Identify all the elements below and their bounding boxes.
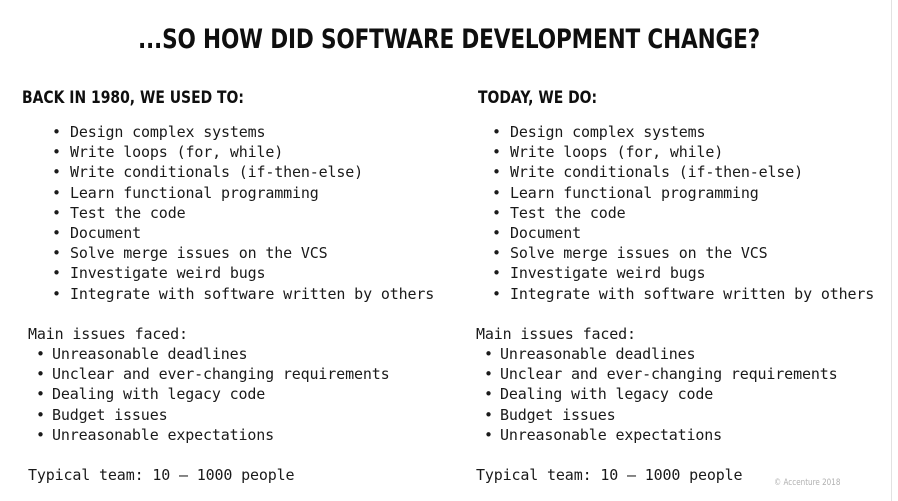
bullet-icon: • bbox=[52, 284, 61, 304]
bullet-icon: • bbox=[52, 203, 61, 223]
list-item: •Learn functional programming bbox=[492, 183, 890, 203]
list-item-label: Test the code bbox=[70, 204, 185, 222]
column-today: TODAY, WE DO: •Design complex systems•Wr… bbox=[470, 88, 890, 485]
list-item: •Write conditionals (if-then-else) bbox=[52, 162, 462, 182]
list-item: •Budget issues bbox=[484, 405, 890, 425]
list-item-label: Learn functional programming bbox=[510, 184, 759, 202]
bullet-icon: • bbox=[492, 122, 501, 142]
list-item-label: Design complex systems bbox=[70, 123, 265, 141]
bullet-icon: • bbox=[52, 183, 61, 203]
bullet-icon: • bbox=[492, 142, 501, 162]
list-item-label: Unreasonable deadlines bbox=[52, 345, 247, 363]
bullet-icon: • bbox=[36, 384, 45, 404]
list-item: •Investigate weird bugs bbox=[492, 263, 890, 283]
column-past-issues-heading: Main issues faced: bbox=[28, 324, 462, 344]
column-today-issues-heading: Main issues faced: bbox=[476, 324, 890, 344]
list-item: •Unreasonable expectations bbox=[36, 425, 462, 445]
bullet-icon: • bbox=[492, 223, 501, 243]
bullet-icon: • bbox=[492, 203, 501, 223]
list-item: •Document bbox=[52, 223, 462, 243]
copyright-watermark: © Accenture 2018 bbox=[774, 478, 840, 488]
column-past-team-section: Typical team: 10 – 1000 people bbox=[22, 465, 462, 485]
list-item: •Solve merge issues on the VCS bbox=[492, 243, 890, 263]
slide: ...SO HOW DID SOFTWARE DEVELOPMENT CHANG… bbox=[0, 0, 898, 501]
list-item: •Dealing with legacy code bbox=[36, 384, 462, 404]
bullet-icon: • bbox=[484, 384, 493, 404]
list-item-label: Unreasonable expectations bbox=[52, 426, 274, 444]
bullet-icon: • bbox=[52, 162, 61, 182]
list-item-label: Integrate with software written by other… bbox=[510, 285, 874, 303]
column-past-heading: BACK IN 1980, WE USED TO: bbox=[22, 88, 383, 108]
list-item: •Budget issues bbox=[36, 405, 462, 425]
bullet-icon: • bbox=[52, 142, 61, 162]
bullet-icon: • bbox=[492, 162, 501, 182]
list-item: •Unreasonable deadlines bbox=[484, 344, 890, 364]
list-item: •Unclear and ever-changing requirements bbox=[484, 364, 890, 384]
bullet-icon: • bbox=[484, 344, 493, 364]
bullet-icon: • bbox=[36, 405, 45, 425]
page-title: ...SO HOW DID SOFTWARE DEVELOPMENT CHANG… bbox=[90, 24, 808, 55]
list-item-label: Unclear and ever-changing requirements bbox=[52, 365, 389, 383]
bullet-icon: • bbox=[52, 223, 61, 243]
list-item: •Investigate weird bugs bbox=[52, 263, 462, 283]
list-item: •Document bbox=[492, 223, 890, 243]
list-item: •Write loops (for, while) bbox=[492, 142, 890, 162]
list-item-label: Solve merge issues on the VCS bbox=[70, 244, 328, 262]
list-item-label: Budget issues bbox=[500, 406, 615, 424]
list-item-label: Design complex systems bbox=[510, 123, 705, 141]
list-item-label: Investigate weird bugs bbox=[70, 264, 265, 282]
list-item: •Test the code bbox=[52, 203, 462, 223]
bullet-icon: • bbox=[492, 183, 501, 203]
list-item-label: Dealing with legacy code bbox=[52, 385, 265, 403]
list-item-label: Integrate with software written by other… bbox=[70, 285, 434, 303]
bullet-icon: • bbox=[492, 243, 501, 263]
bullet-icon: • bbox=[484, 364, 493, 384]
bullet-icon: • bbox=[36, 364, 45, 384]
list-item: •Write conditionals (if-then-else) bbox=[492, 162, 890, 182]
list-item-label: Test the code bbox=[510, 204, 625, 222]
column-past-issues-section: Main issues faced: •Unreasonable deadlin… bbox=[22, 324, 462, 445]
list-item: •Integrate with software written by othe… bbox=[52, 284, 462, 304]
list-item-label: Write conditionals (if-then-else) bbox=[70, 163, 363, 181]
list-item: •Learn functional programming bbox=[52, 183, 462, 203]
list-item-label: Document bbox=[70, 224, 141, 242]
list-item: •Dealing with legacy code bbox=[484, 384, 890, 404]
bullet-icon: • bbox=[36, 344, 45, 364]
list-item-label: Dealing with legacy code bbox=[500, 385, 713, 403]
slide-right-edge-rule bbox=[891, 0, 892, 501]
list-item: •Solve merge issues on the VCS bbox=[52, 243, 462, 263]
column-past-team-line: Typical team: 10 – 1000 people bbox=[28, 465, 462, 485]
list-item: •Test the code bbox=[492, 203, 890, 223]
list-item-label: Write conditionals (if-then-else) bbox=[510, 163, 803, 181]
column-past-task-list: •Design complex systems•Write loops (for… bbox=[22, 122, 462, 304]
column-today-issues-list: •Unreasonable deadlines•Unclear and ever… bbox=[476, 344, 890, 445]
list-item: •Unclear and ever-changing requirements bbox=[36, 364, 462, 384]
column-past-issues-list: •Unreasonable deadlines•Unclear and ever… bbox=[28, 344, 462, 445]
list-item-label: Write loops (for, while) bbox=[70, 143, 283, 161]
list-item-label: Document bbox=[510, 224, 581, 242]
column-today-task-list: •Design complex systems•Write loops (for… bbox=[470, 122, 890, 304]
list-item: •Unreasonable expectations bbox=[484, 425, 890, 445]
bullet-icon: • bbox=[492, 284, 501, 304]
bullet-icon: • bbox=[484, 405, 493, 425]
list-item: •Unreasonable deadlines bbox=[36, 344, 462, 364]
bullet-icon: • bbox=[52, 243, 61, 263]
list-item-label: Investigate weird bugs bbox=[510, 264, 705, 282]
list-item-label: Budget issues bbox=[52, 406, 167, 424]
bullet-icon: • bbox=[36, 425, 45, 445]
list-item: •Design complex systems bbox=[492, 122, 890, 142]
list-item: •Design complex systems bbox=[52, 122, 462, 142]
column-past: BACK IN 1980, WE USED TO: •Design comple… bbox=[22, 88, 462, 485]
column-today-heading: TODAY, WE DO: bbox=[478, 88, 816, 108]
list-item-label: Unclear and ever-changing requirements bbox=[500, 365, 837, 383]
bullet-icon: • bbox=[52, 263, 61, 283]
list-item-label: Unreasonable expectations bbox=[500, 426, 722, 444]
column-today-issues-section: Main issues faced: •Unreasonable deadlin… bbox=[470, 324, 890, 445]
list-item: •Write loops (for, while) bbox=[52, 142, 462, 162]
list-item-label: Write loops (for, while) bbox=[510, 143, 723, 161]
bullet-icon: • bbox=[52, 122, 61, 142]
bullet-icon: • bbox=[484, 425, 493, 445]
list-item-label: Solve merge issues on the VCS bbox=[510, 244, 768, 262]
bullet-icon: • bbox=[492, 263, 501, 283]
list-item: •Integrate with software written by othe… bbox=[492, 284, 890, 304]
list-item-label: Unreasonable deadlines bbox=[500, 345, 695, 363]
list-item-label: Learn functional programming bbox=[70, 184, 319, 202]
